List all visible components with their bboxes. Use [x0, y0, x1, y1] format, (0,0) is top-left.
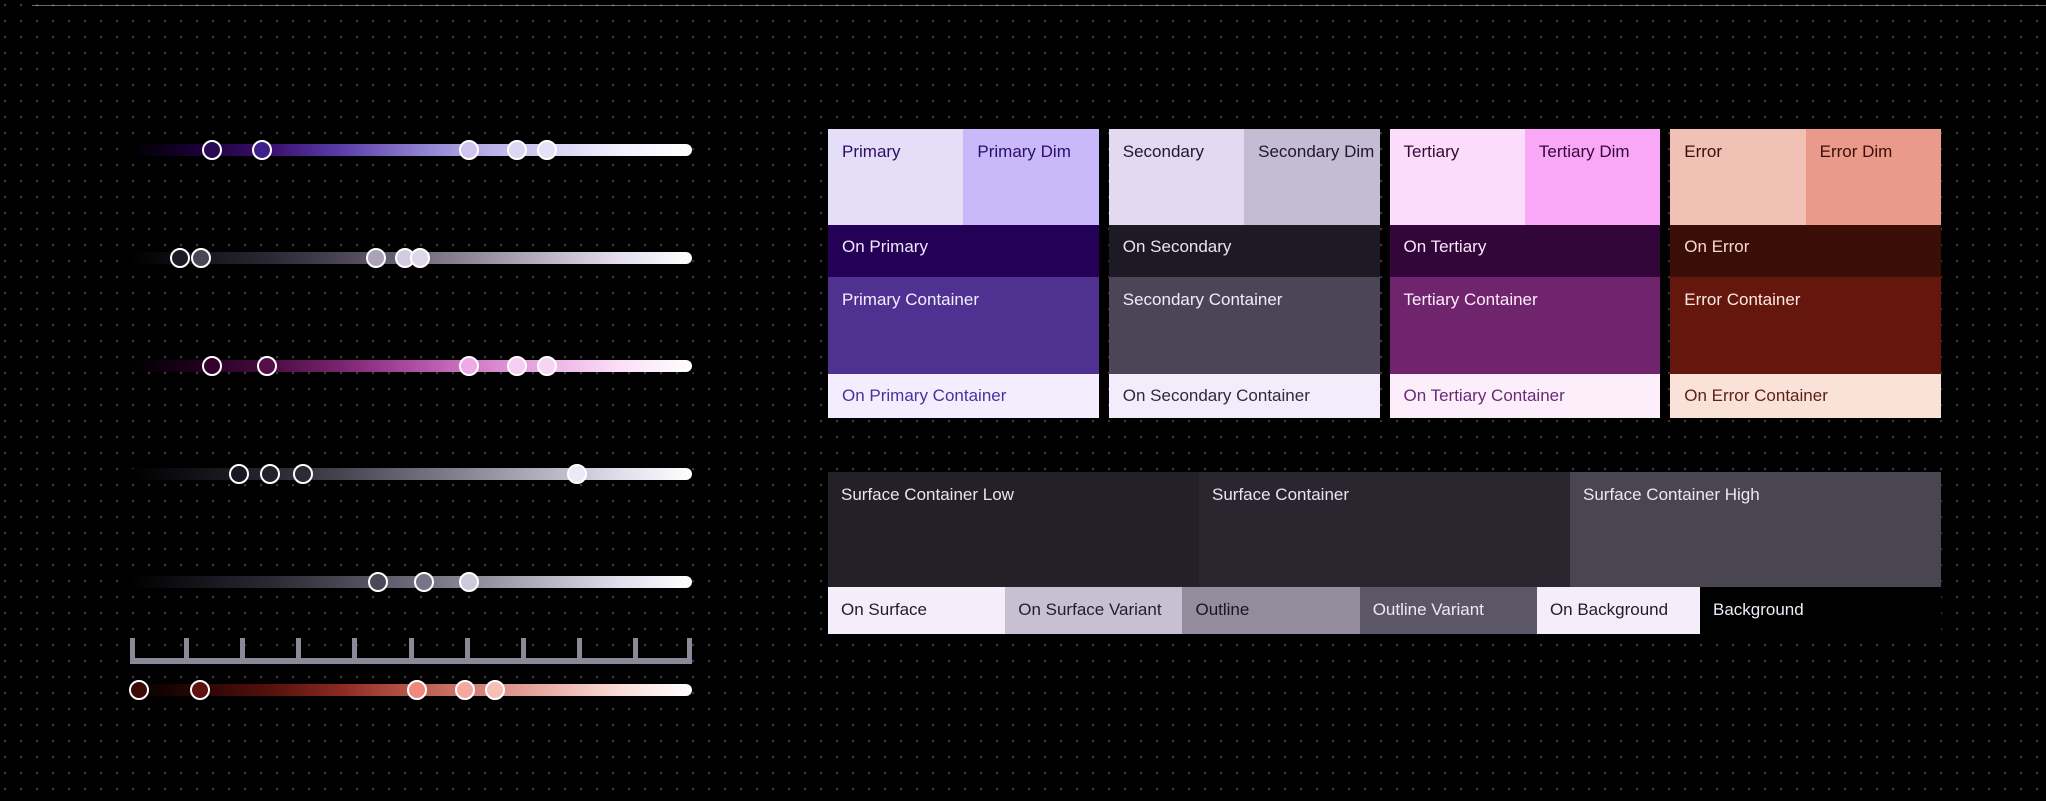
primary-tonal-palette-handle-5[interactable]: [537, 140, 557, 160]
ruler-tick-1: [184, 638, 189, 664]
swatch-on-tertiary-container[interactable]: On Tertiary Container: [1390, 374, 1661, 418]
swatch-secondary-container[interactable]: Secondary Container: [1109, 277, 1380, 374]
tonal-palette-sliders: [130, 140, 692, 660]
neutral-tonal-palette[interactable]: [130, 464, 692, 484]
swatch-label-primary: Primary: [842, 142, 901, 162]
swatch-error-dim[interactable]: Error Dim: [1806, 129, 1941, 225]
swatch-on-secondary[interactable]: On Secondary: [1109, 225, 1380, 277]
tertiary-pair-row: Tertiary Tertiary Dim: [1390, 129, 1661, 225]
ruler-tick-6: [465, 638, 470, 664]
secondary-tonal-palette-handle-1[interactable]: [170, 248, 190, 268]
swatch-on-error-container[interactable]: On Error Container: [1670, 374, 1941, 418]
scheme-color-roles: Primary Primary Dim On Primary Primary C…: [828, 129, 1941, 434]
neutral-variant-tonal-palette-handle-3[interactable]: [459, 572, 479, 592]
scheme-surface-roles: Surface Container LowSurface ContainerSu…: [828, 472, 1941, 634]
top-divider-rule: [32, 5, 2046, 6]
error-tonal-palette-handle-4[interactable]: [455, 680, 475, 700]
swatch-label-secondary-dim: Secondary Dim: [1258, 142, 1374, 162]
swatch-background[interactable]: Background: [1700, 587, 1941, 634]
secondary-tonal-palette-handle-5[interactable]: [410, 248, 430, 268]
primary-tonal-palette-handle-4[interactable]: [507, 140, 527, 160]
swatch-label-on-primary-container: On Primary Container: [842, 386, 1006, 406]
swatch-outline-variant[interactable]: Outline Variant: [1360, 587, 1537, 634]
primary-tonal-palette-handle-1[interactable]: [202, 140, 222, 160]
tertiary-tonal-palette-handle-1[interactable]: [202, 356, 222, 376]
error-tonal-palette-handle-5[interactable]: [485, 680, 505, 700]
swatch-surface-container[interactable]: Surface Container: [1199, 472, 1570, 587]
swatch-label-primary-dim: Primary Dim: [977, 142, 1071, 162]
swatch-label-surface-container-high: Surface Container High: [1583, 485, 1760, 505]
swatch-surface-container-high[interactable]: Surface Container High: [1570, 472, 1941, 587]
scheme-column-secondary: Secondary Secondary Dim On Secondary Sec…: [1109, 129, 1380, 434]
swatch-label-outline-variant: Outline Variant: [1373, 600, 1484, 620]
ruler-tick-5: [409, 638, 414, 664]
swatch-secondary-dim[interactable]: Secondary Dim: [1244, 129, 1379, 225]
swatch-on-surface[interactable]: On Surface: [828, 587, 1005, 634]
swatch-label-tertiary: Tertiary: [1404, 142, 1460, 162]
swatch-tertiary[interactable]: Tertiary: [1390, 129, 1525, 225]
swatch-label-on-secondary: On Secondary: [1123, 237, 1232, 257]
swatch-label-on-error: On Error: [1684, 237, 1749, 257]
swatch-label-tertiary-dim: Tertiary Dim: [1539, 142, 1630, 162]
swatch-tertiary-container[interactable]: Tertiary Container: [1390, 277, 1661, 374]
swatch-on-tertiary[interactable]: On Tertiary: [1390, 225, 1661, 277]
swatch-label-background: Background: [1713, 600, 1804, 620]
error-tonal-palette-handle-3[interactable]: [407, 680, 427, 700]
primary-tonal-palette[interactable]: [130, 140, 692, 160]
swatch-surface-container-low[interactable]: Surface Container Low: [828, 472, 1199, 587]
tertiary-tonal-palette-handle-4[interactable]: [507, 356, 527, 376]
swatch-label-on-tertiary: On Tertiary: [1404, 237, 1487, 257]
swatch-on-surface-variant[interactable]: On Surface Variant: [1005, 587, 1182, 634]
swatch-label-error-dim: Error Dim: [1820, 142, 1893, 162]
primary-tonal-palette-handle-2[interactable]: [252, 140, 272, 160]
swatch-label-surface-container: Surface Container: [1212, 485, 1349, 505]
swatch-tertiary-dim[interactable]: Tertiary Dim: [1525, 129, 1660, 225]
secondary-tonal-palette[interactable]: [130, 248, 692, 268]
swatch-label-on-error-container: On Error Container: [1684, 386, 1828, 406]
neutral-tonal-palette-handle-4[interactable]: [567, 464, 587, 484]
ruler-tick-9: [633, 638, 638, 664]
color-scheme-canvas: Primary Primary Dim On Primary Primary C…: [0, 0, 2046, 801]
scheme-column-primary: Primary Primary Dim On Primary Primary C…: [828, 129, 1099, 434]
swatch-on-primary[interactable]: On Primary: [828, 225, 1099, 277]
secondary-pair-row: Secondary Secondary Dim: [1109, 129, 1380, 225]
primary-pair-row: Primary Primary Dim: [828, 129, 1099, 225]
ruler-tick-3: [296, 638, 301, 664]
swatch-label-on-primary: On Primary: [842, 237, 928, 257]
swatch-on-primary-container[interactable]: On Primary Container: [828, 374, 1099, 418]
swatch-on-background[interactable]: On Background: [1537, 587, 1700, 634]
swatch-label-surface-container-low: Surface Container Low: [841, 485, 1014, 505]
secondary-tonal-palette-handle-3[interactable]: [366, 248, 386, 268]
ruler-tick-7: [521, 638, 526, 664]
tertiary-tonal-palette-handle-5[interactable]: [537, 356, 557, 376]
primary-tonal-palette-handle-3[interactable]: [459, 140, 479, 160]
swatch-label-primary-container: Primary Container: [842, 290, 979, 310]
neutral-variant-tonal-palette-handle-1[interactable]: [368, 572, 388, 592]
swatch-secondary[interactable]: Secondary: [1109, 129, 1244, 225]
swatch-primary-dim[interactable]: Primary Dim: [963, 129, 1098, 225]
swatch-outline[interactable]: Outline: [1182, 587, 1359, 634]
swatch-primary[interactable]: Primary: [828, 129, 963, 225]
ruler-tick-4: [352, 638, 357, 664]
swatch-label-on-secondary-container: On Secondary Container: [1123, 386, 1310, 406]
swatch-error[interactable]: Error: [1670, 129, 1805, 225]
neutral-variant-tonal-palette[interactable]: [130, 572, 692, 592]
neutral-variant-tonal-palette-track[interactable]: [130, 576, 692, 588]
swatch-error-container[interactable]: Error Container: [1670, 277, 1941, 374]
tone-ruler: [130, 630, 692, 664]
neutral-variant-tonal-palette-handle-2[interactable]: [414, 572, 434, 592]
ruler-tick-2: [240, 638, 245, 664]
tertiary-tonal-palette[interactable]: [130, 356, 692, 376]
error-tonal-palette[interactable]: [130, 680, 692, 700]
swatch-on-error[interactable]: On Error: [1670, 225, 1941, 277]
surface-container-row: Surface Container LowSurface ContainerSu…: [828, 472, 1941, 587]
neutral-tonal-palette-track[interactable]: [130, 468, 692, 480]
error-tonal-palette-handle-2[interactable]: [190, 680, 210, 700]
swatch-primary-container[interactable]: Primary Container: [828, 277, 1099, 374]
swatch-label-error-container: Error Container: [1684, 290, 1800, 310]
tertiary-tonal-palette-handle-3[interactable]: [459, 356, 479, 376]
swatch-label-on-surface-variant: On Surface Variant: [1018, 600, 1161, 620]
surface-onrole-row: On SurfaceOn Surface VariantOutlineOutli…: [828, 587, 1941, 634]
ruler-tick-8: [577, 638, 582, 664]
swatch-label-outline: Outline: [1195, 600, 1249, 620]
error-tonal-palette-handle-1[interactable]: [129, 680, 149, 700]
neutral-tonal-palette-handle-3[interactable]: [293, 464, 313, 484]
swatch-label-tertiary-container: Tertiary Container: [1404, 290, 1538, 310]
swatch-label-on-background: On Background: [1550, 600, 1668, 620]
swatch-label-secondary: Secondary: [1123, 142, 1204, 162]
neutral-tonal-palette-handle-2[interactable]: [260, 464, 280, 484]
swatch-label-on-surface: On Surface: [841, 600, 927, 620]
scheme-column-error: Error Error Dim On Error Error Container…: [1670, 129, 1941, 434]
error-pair-row: Error Error Dim: [1670, 129, 1941, 225]
scheme-column-tertiary: Tertiary Tertiary Dim On Tertiary Tertia…: [1390, 129, 1661, 434]
secondary-tonal-palette-handle-2[interactable]: [191, 248, 211, 268]
swatch-label-on-tertiary-container: On Tertiary Container: [1404, 386, 1565, 406]
ruler-tick-10: [687, 638, 692, 664]
swatch-on-secondary-container[interactable]: On Secondary Container: [1109, 374, 1380, 418]
tertiary-tonal-palette-handle-2[interactable]: [257, 356, 277, 376]
swatch-label-secondary-container: Secondary Container: [1123, 290, 1283, 310]
ruler-tick-0: [130, 638, 135, 664]
swatch-label-error: Error: [1684, 142, 1722, 162]
neutral-tonal-palette-handle-1[interactable]: [229, 464, 249, 484]
